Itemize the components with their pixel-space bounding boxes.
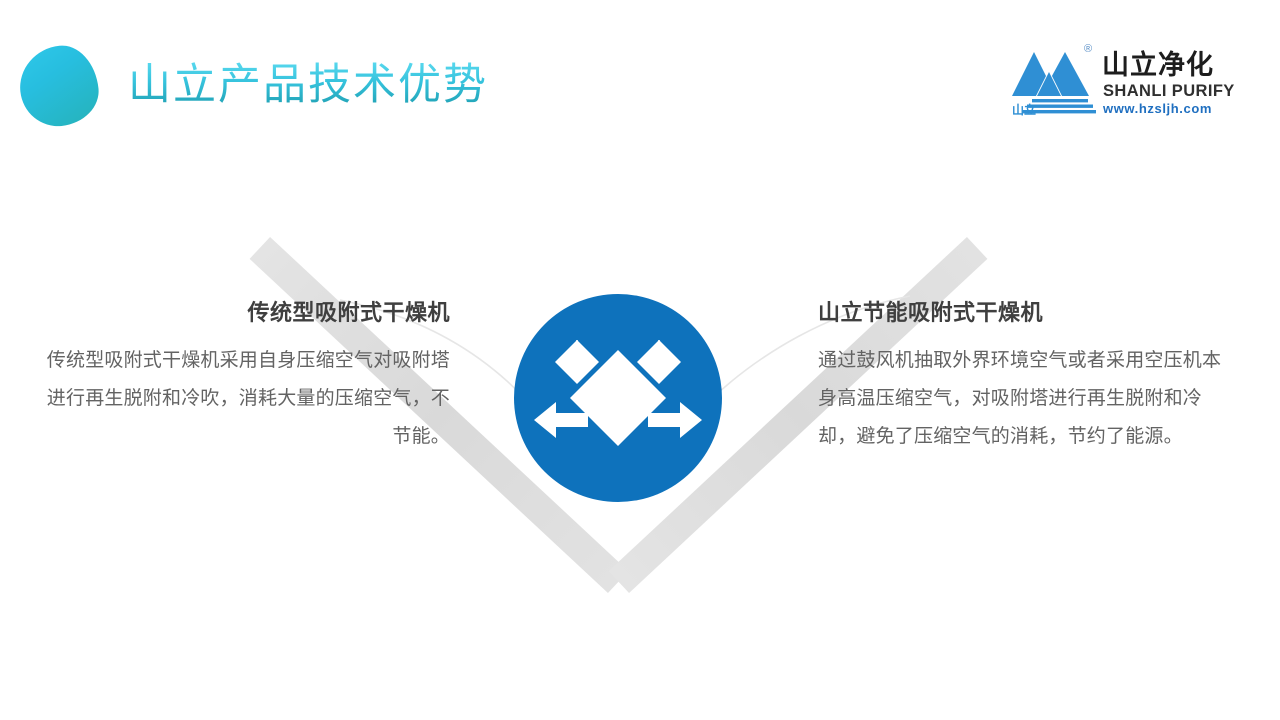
center-feature-circle xyxy=(514,294,722,502)
svg-text:山立: 山立 xyxy=(1012,102,1036,117)
column-traditional-dryer: 传统型吸附式干燥机 传统型吸附式干燥机采用自身压缩空气对吸附塔进行再生脱附和冷吹… xyxy=(44,300,450,456)
slide-header: 山立产品技术优势 山立 ® 山立净化 SHANLI PURIFY www.hzs… xyxy=(0,0,1280,150)
distribute-diamonds-arrows-icon xyxy=(514,294,722,502)
logo-name-en: SHANLI PURIFY xyxy=(1103,83,1235,100)
registered-trademark-icon: ® xyxy=(1084,44,1092,55)
logo-name-cn: 山立净化 xyxy=(1102,52,1214,79)
column-right-body: 通过鼓风机抽取外界环境空气或者采用空压机本身高温压缩空气，对吸附塔进行再生脱附和… xyxy=(818,342,1224,456)
decorative-blob-shape xyxy=(16,42,102,130)
column-right-title: 山立节能吸附式干燥机 xyxy=(818,300,1224,326)
column-left-title: 传统型吸附式干燥机 xyxy=(44,300,450,326)
column-shanli-dryer: 山立节能吸附式干燥机 通过鼓风机抽取外界环境空气或者采用空压机本身高温压缩空气，… xyxy=(818,300,1224,456)
logo-website: www.hzsljh.com xyxy=(1103,102,1212,115)
company-logo: 山立 ® 山立净化 SHANLI PURIFY www.hzsljh.com xyxy=(1010,38,1218,120)
slide-root: 山立产品技术优势 山立 ® 山立净化 SHANLI PURIFY www.hzs… xyxy=(0,0,1280,720)
page-title: 山立产品技术优势 xyxy=(128,62,488,109)
column-left-body: 传统型吸附式干燥机采用自身压缩空气对吸附塔进行再生脱附和冷吹，消耗大量的压缩空气… xyxy=(44,342,450,456)
